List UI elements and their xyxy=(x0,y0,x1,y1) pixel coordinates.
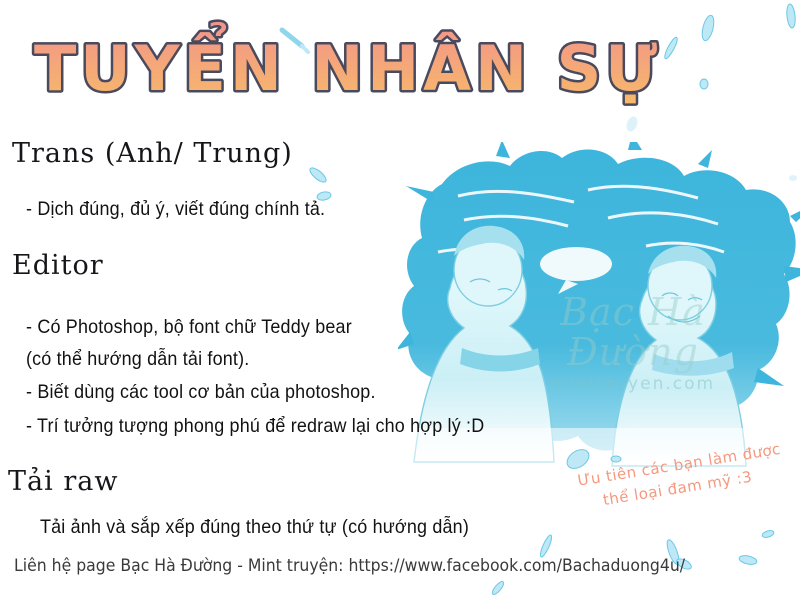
figure-right xyxy=(612,246,746,466)
editor-requirement-2: - Biết dùng các tool cơ bản của photosho… xyxy=(26,381,376,404)
watermark-main: Bạc Hà Đường xyxy=(498,292,768,372)
highlight-streaks xyxy=(438,186,724,256)
page-title: TUYỂN NHÂN SỰ xyxy=(34,18,464,110)
section-heading-editor: Editor xyxy=(12,250,104,281)
speech-bubble xyxy=(540,247,612,281)
splatter-background xyxy=(398,142,800,451)
watermark: Bạc Hà Đường minttruyen.com xyxy=(498,292,768,394)
editor-requirement-1-cont: (có thể hướng dẫn tải font). xyxy=(26,348,249,371)
editor-requirement-1: - Có Photoshop, bộ font chữ Teddy bear xyxy=(26,316,352,339)
page-title-text: TUYỂN NHÂN SỰ xyxy=(34,21,661,105)
footer-contact: Liên hệ page Bạc Hà Đường - Mint truyện:… xyxy=(14,556,685,575)
section-heading-trans: Trans (Anh/ Trung) xyxy=(12,138,293,169)
watermark-sub: minttruyen.com xyxy=(498,374,768,394)
handwritten-note: Ưu tiên các bạn làm được thể loại đam mỹ… xyxy=(576,434,800,539)
poster-page: Bạc Hà Đường minttruyen.com xyxy=(0,0,800,600)
editor-requirement-3: - Trí tưởng tượng phong phú để redraw lạ… xyxy=(26,415,484,438)
tai-raw-requirement-1: Tải ảnh và sắp xếp đúng theo thứ tự (có … xyxy=(40,516,469,539)
section-heading-tai-raw: Tải raw xyxy=(8,466,118,497)
trans-requirement-1: - Dịch đúng, đủ ý, viết đúng chính tả. xyxy=(26,198,325,221)
